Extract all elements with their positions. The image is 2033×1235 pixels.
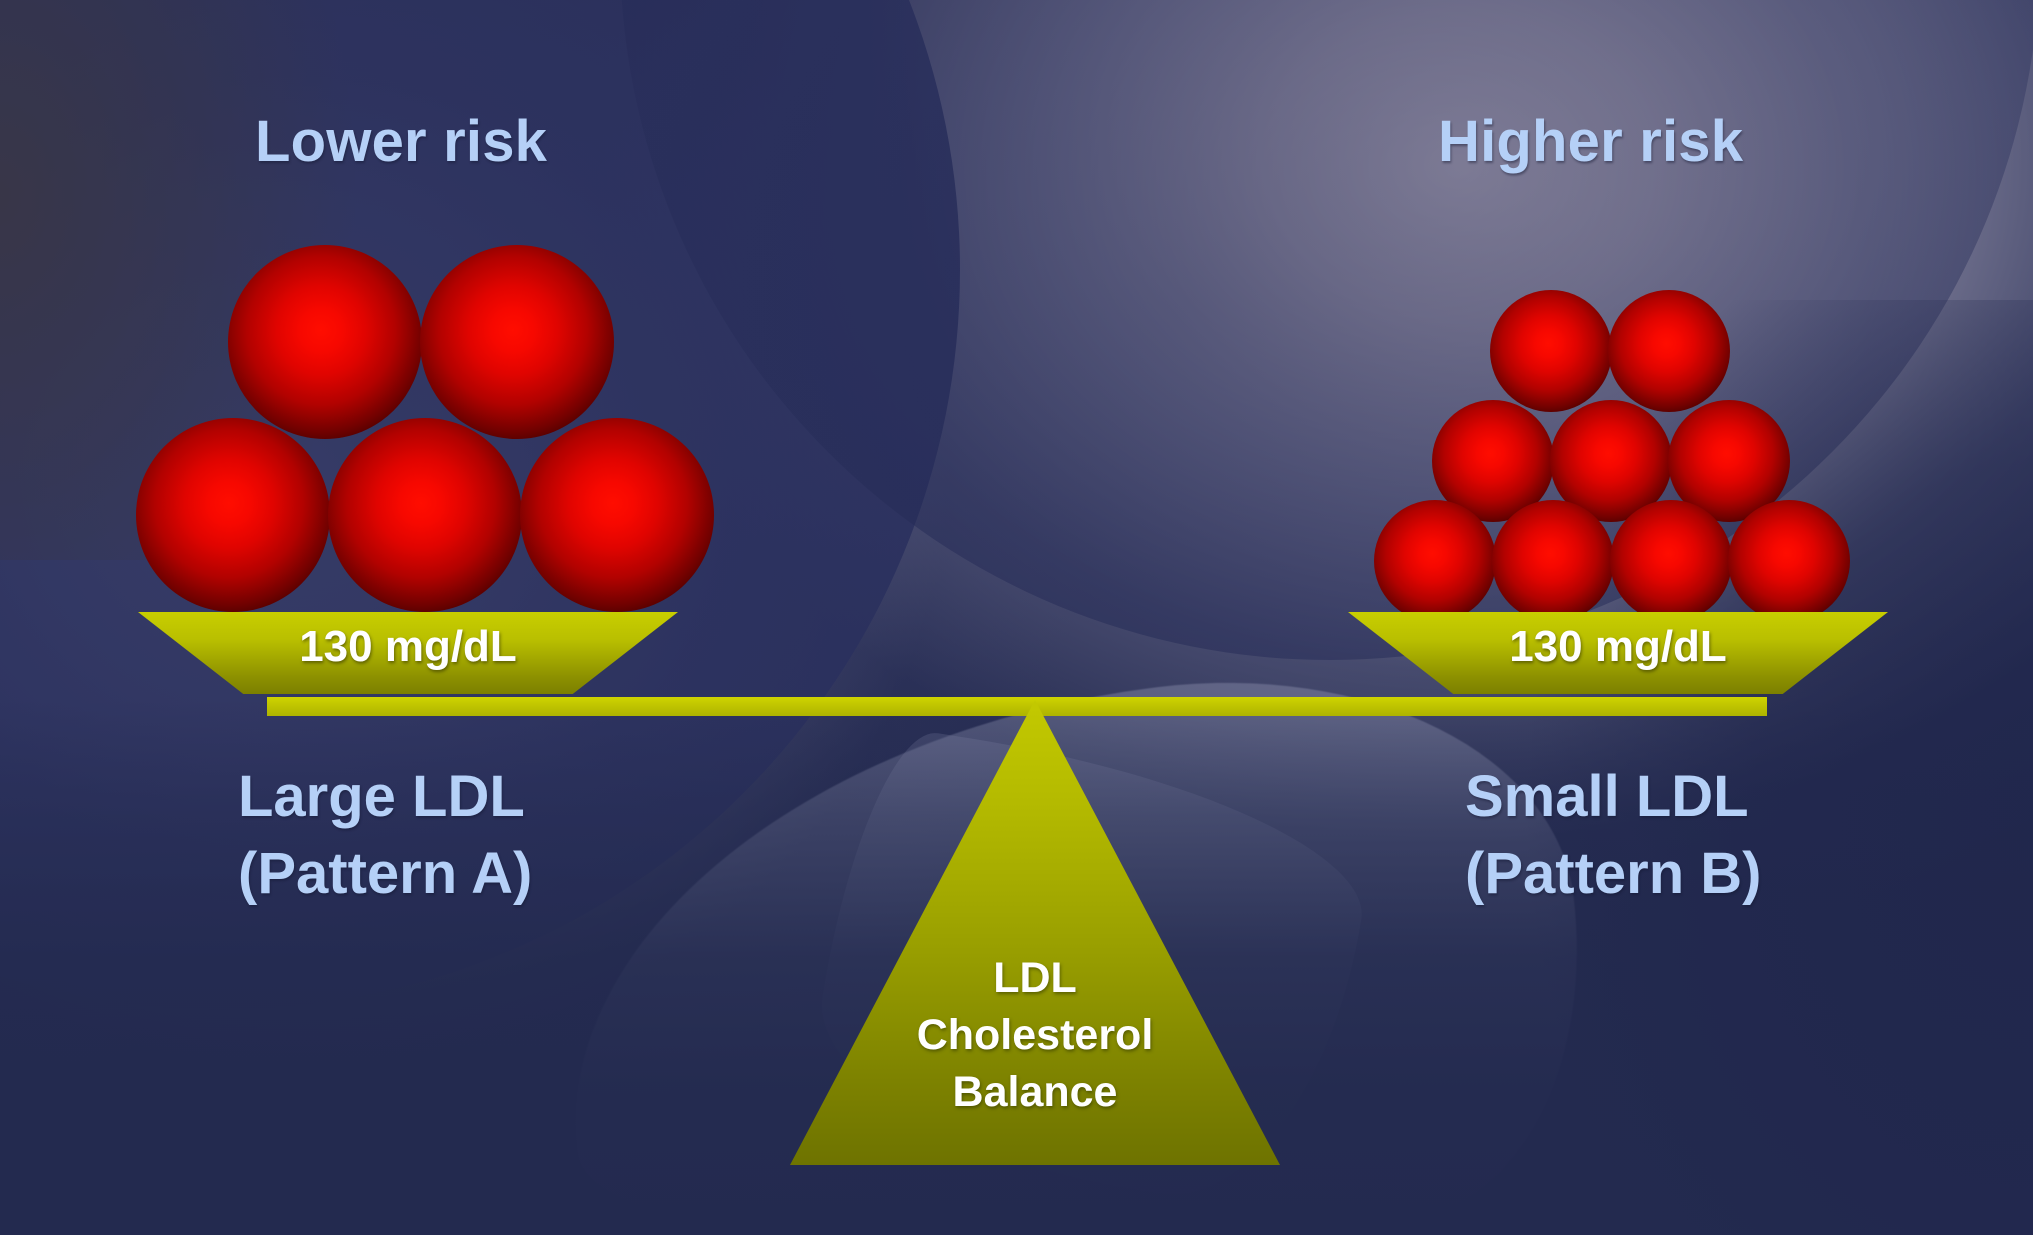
left-risk-label: Lower risk — [255, 108, 547, 175]
ldl-particle — [1610, 500, 1732, 622]
balance-beam — [267, 697, 1767, 716]
ldl-particle — [1490, 290, 1612, 412]
infographic-canvas: Lower risk Higher risk 130 mg/dL 130 mg/… — [0, 0, 2033, 1235]
left-pan-value: 130 mg/dL — [138, 622, 678, 672]
right-risk-label: Higher risk — [1438, 108, 1743, 175]
ldl-particle — [1608, 290, 1730, 412]
ldl-particle — [136, 418, 330, 612]
right-pan-value: 130 mg/dL — [1348, 622, 1888, 672]
left-pattern-label: Large LDL (Pattern A) — [238, 758, 532, 912]
ldl-particle — [328, 418, 522, 612]
ldl-particle — [1374, 500, 1496, 622]
fulcrum-label: LDL Cholesterol Balance — [790, 950, 1280, 1122]
ldl-particle — [420, 245, 614, 439]
ldl-particle — [228, 245, 422, 439]
right-pattern-label: Small LDL (Pattern B) — [1465, 758, 1761, 912]
ldl-particle — [1492, 500, 1614, 622]
ldl-particle — [520, 418, 714, 612]
ldl-particle — [1728, 500, 1850, 622]
